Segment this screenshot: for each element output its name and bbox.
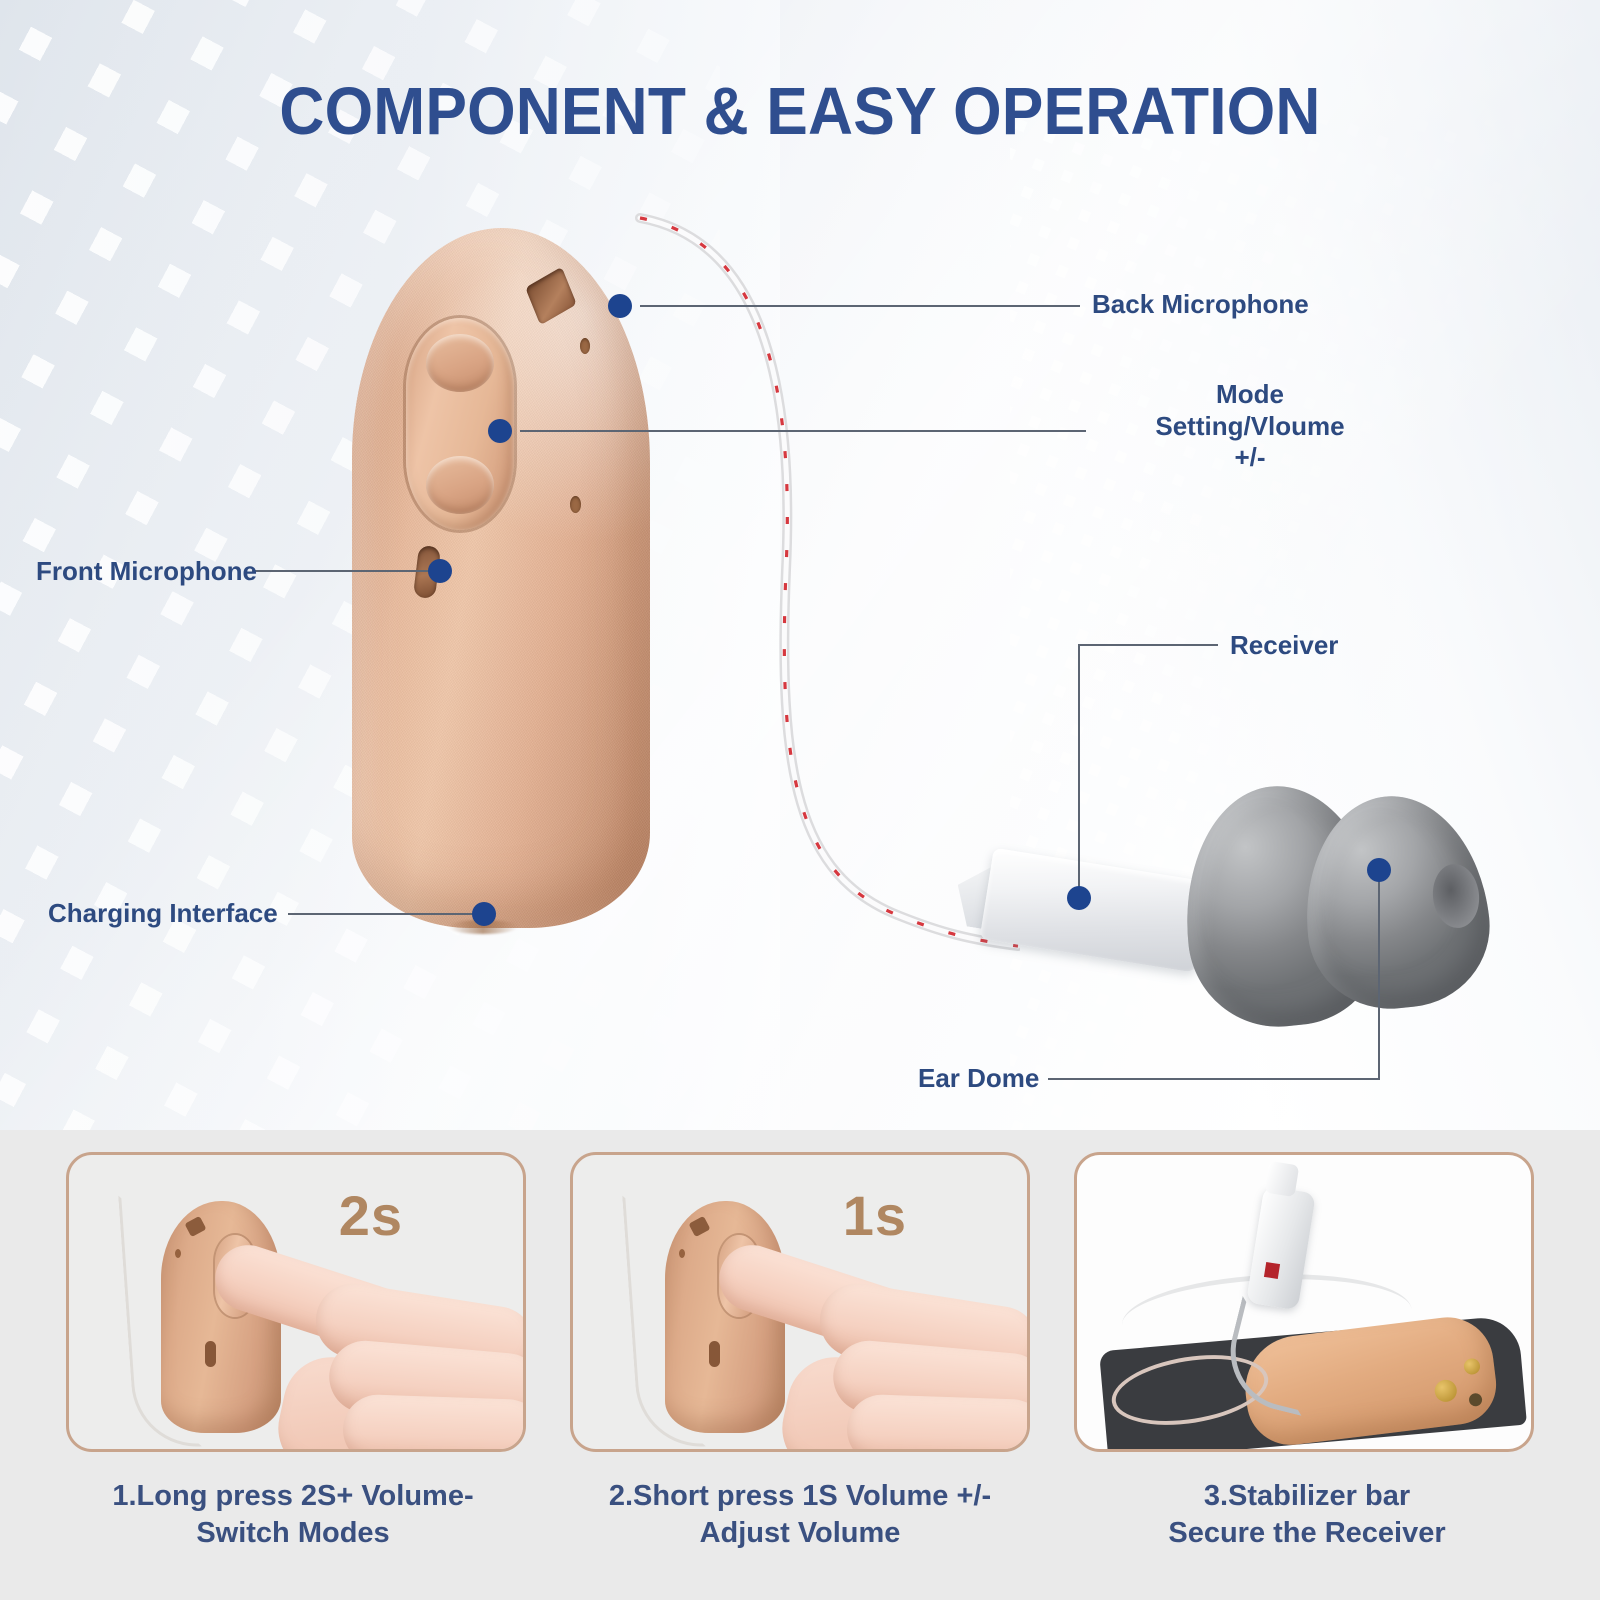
- leader-line-mode-setting: [520, 430, 1086, 432]
- step-caption-1: 1.Long press 2S+ Volume- Switch Modes: [40, 1478, 546, 1552]
- leader-line-back-microphone: [640, 305, 1080, 307]
- step-3-receiver-marking: [1264, 1262, 1280, 1279]
- step-1-vent-port: [175, 1249, 181, 1258]
- operation-steps-section: 2s 1s: [0, 1130, 1600, 1600]
- step-3-receiver-cap: [1265, 1161, 1300, 1197]
- callout-label-ear-dome: Ear Dome: [918, 1063, 1039, 1095]
- step-caption-3: 3.Stabilizer bar Secure the Receiver: [1054, 1478, 1560, 1552]
- step-3-charging-contact-2: [1463, 1358, 1481, 1376]
- step-3-charging-contact-3: [1468, 1393, 1482, 1407]
- leader-line-charging-interface: [288, 913, 488, 915]
- callout-dot-front-microphone: [428, 559, 452, 583]
- callout-dot-charging-interface: [472, 902, 496, 926]
- step-3-charging-contact-1: [1434, 1379, 1459, 1404]
- page-title: COMPONENT & EASY OPERATION: [56, 78, 1544, 145]
- callout-label-charging-interface: Charging Interface: [48, 898, 278, 930]
- leader-line-receiver-horizontal: [1078, 644, 1218, 646]
- ear-dome: [1185, 768, 1485, 1030]
- step-caption-2: 2.Short press 1S Volume +/- Adjust Volum…: [547, 1478, 1053, 1552]
- step-2-vent-port: [679, 1249, 685, 1258]
- diagram-section: COMPONENT & EASY OPERATION: [0, 0, 1600, 1130]
- rocker-pad-down[interactable]: [426, 456, 494, 514]
- rocker-pad-up[interactable]: [426, 334, 494, 392]
- callout-label-front-microphone: Front Microphone: [36, 556, 257, 588]
- receiver-wire: [600, 210, 1020, 970]
- step-panel-2: 1s: [570, 1152, 1030, 1452]
- step-1-pressing-hand: [211, 1207, 526, 1452]
- leader-line-ear-dome-vertical: [1378, 880, 1380, 1080]
- step-panels: 2s 1s: [0, 1152, 1600, 1452]
- callout-dot-ear-dome: [1367, 858, 1391, 882]
- leader-line-front-microphone: [252, 570, 444, 572]
- step-2-pressing-hand: [715, 1207, 1030, 1452]
- callout-label-mode-setting: Mode Setting/Vloume +/-: [1100, 379, 1400, 474]
- callout-dot-receiver: [1067, 886, 1091, 910]
- step-captions: 1.Long press 2S+ Volume- Switch Modes 2.…: [0, 1478, 1600, 1552]
- vent-port-upper: [580, 338, 590, 354]
- leader-line-ear-dome-horizontal: [1048, 1078, 1380, 1080]
- callout-dot-mode-setting: [488, 419, 512, 443]
- leader-line-receiver-vertical: [1078, 644, 1080, 898]
- step-2-finger-pinky: [846, 1394, 1030, 1452]
- step-panel-3: [1074, 1152, 1534, 1452]
- infographic-page: COMPONENT & EASY OPERATION: [0, 0, 1600, 1600]
- callout-dot-back-microphone: [608, 294, 632, 318]
- vent-port-lower: [570, 496, 581, 513]
- step-panel-1: 2s: [66, 1152, 526, 1452]
- callout-label-back-microphone: Back Microphone: [1092, 289, 1309, 321]
- step-1-finger-pinky: [342, 1394, 526, 1452]
- callout-label-receiver: Receiver: [1230, 630, 1338, 662]
